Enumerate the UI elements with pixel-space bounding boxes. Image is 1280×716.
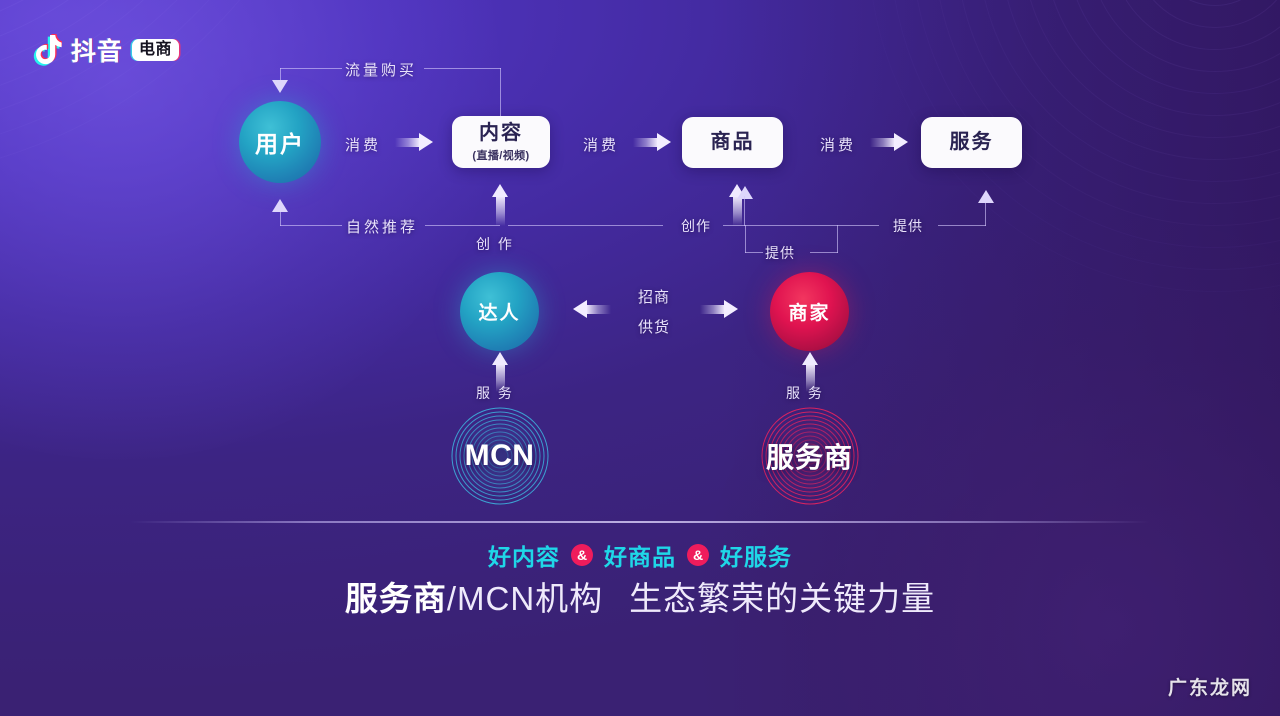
- arrow-tail: [587, 305, 611, 314]
- edge-organic-arrowhead: [272, 199, 288, 212]
- edge-organic-line-b: [425, 225, 500, 226]
- arrow-tail: [395, 138, 419, 147]
- edge-label-service-right: 服 务: [786, 383, 824, 403]
- edge-supply-right-riser: [985, 203, 986, 226]
- edge-traffic-buy-line-right: [424, 68, 501, 69]
- edge-supply-mid-stem: [744, 196, 745, 226]
- edge-label-recruit: 招商: [638, 286, 670, 307]
- brand-logo: 抖音 电商: [28, 32, 179, 68]
- edge-create-right-line-a: [723, 225, 879, 226]
- arrow-tail: [870, 138, 894, 147]
- arrow-create-to-content: [492, 184, 508, 226]
- arrow-tail: [733, 197, 742, 226]
- arrow-head: [573, 300, 587, 318]
- tagline-row: 好内容 & 好商品 & 好服务: [0, 538, 1280, 572]
- node-talent-label: 达人: [478, 298, 520, 325]
- edge-create-left-line: [508, 225, 663, 226]
- edge-traffic-buy-line-left: [280, 68, 342, 69]
- tagline-part-2: 好商品: [604, 538, 676, 572]
- node-goods-label: 商品: [711, 131, 755, 154]
- node-service-provider[interactable]: 服务商: [762, 408, 857, 503]
- node-mcn[interactable]: MCN: [452, 408, 547, 503]
- node-merchant-label: 商家: [788, 298, 830, 325]
- edge-label-consume-1: 消费: [345, 134, 381, 155]
- node-service-label: 服务: [950, 131, 994, 154]
- edge-supply-right-line: [938, 225, 986, 226]
- node-goods[interactable]: 商品: [682, 117, 783, 168]
- arrow-consume-3: [870, 135, 908, 149]
- edge-supply-mid-line-right: [810, 252, 838, 253]
- music-note-icon: [28, 33, 62, 67]
- arrow-recruit-to-talent: [573, 302, 611, 316]
- edge-label-consume-3: 消费: [820, 134, 856, 155]
- node-mcn-label: MCN: [465, 439, 535, 473]
- edge-label-traffic-buy: 流量购买: [345, 59, 417, 80]
- headline-row: 服务商 / MCN机构 生态繁荣的关键力量: [0, 572, 1280, 620]
- arrow-tail: [700, 305, 724, 314]
- tagline-part-3: 好服务: [720, 538, 792, 572]
- headline-mid: MCN机构: [457, 572, 603, 620]
- edge-organic-riser: [280, 212, 281, 226]
- edge-label-consume-2: 消费: [583, 134, 619, 155]
- arrow-head: [724, 300, 738, 318]
- tagline-part-1: 好内容: [488, 538, 560, 572]
- arrow-head: [894, 133, 908, 151]
- headline-slash: /: [447, 580, 457, 618]
- ampersand-badge-1: &: [571, 544, 593, 566]
- edge-traffic-buy-riser: [500, 68, 501, 116]
- brand-name: 抖音: [71, 32, 123, 68]
- arrow-consume-1: [395, 135, 433, 149]
- edge-label-create-left: 创 作: [476, 234, 514, 254]
- node-service-provider-label: 服务商: [766, 436, 853, 476]
- arrow-head: [492, 352, 508, 365]
- node-service[interactable]: 服务: [921, 117, 1022, 168]
- edge-supply-mid-right-riser: [837, 225, 838, 253]
- node-user[interactable]: 用户: [239, 101, 321, 183]
- arrow-supply-to-merchant: [700, 302, 738, 316]
- node-talent[interactable]: 达人: [460, 272, 539, 351]
- edge-label-supply-right: 提供: [893, 216, 923, 236]
- watermark: 广东龙网: [1168, 673, 1252, 700]
- edge-supply-right-arrowhead: [978, 190, 994, 203]
- headline-bold: 服务商: [345, 572, 447, 620]
- node-content[interactable]: 内容 (直播/视频): [452, 116, 550, 168]
- node-content-sublabel: (直播/视频): [472, 147, 529, 163]
- slide-canvas: 抖音 电商 用户 内容 (直播/视频) 商品 服务 流量购买 消费 消费 消费 …: [0, 0, 1280, 716]
- arrow-head: [802, 352, 818, 365]
- node-content-label: 内容: [479, 122, 523, 145]
- section-divider: [130, 521, 1150, 523]
- arrow-tail: [496, 197, 505, 226]
- edge-supply-mid-line-left: [745, 252, 763, 253]
- arrow-head: [419, 133, 433, 151]
- edge-organic-line-a: [280, 225, 342, 226]
- arrow-head: [492, 184, 508, 197]
- arrow-consume-2: [633, 135, 671, 149]
- edge-label-supply-mid: 提供: [765, 243, 795, 263]
- ampersand-badge-2: &: [687, 544, 709, 566]
- edge-supply-mid-left-riser: [745, 225, 746, 253]
- edge-label-service-left: 服 务: [476, 383, 514, 403]
- node-user-label: 用户: [255, 125, 305, 159]
- headline-tail: 生态繁荣的关键力量: [629, 572, 935, 620]
- edge-label-supply-goods: 供货: [638, 316, 670, 337]
- edge-label-create-right: 创作: [681, 216, 711, 236]
- node-merchant[interactable]: 商家: [770, 272, 849, 351]
- edge-traffic-buy-arrowhead: [272, 80, 288, 93]
- edge-label-organic-rec: 自然推荐: [346, 216, 418, 237]
- brand-badge: 电商: [132, 39, 179, 62]
- arrow-head: [657, 133, 671, 151]
- arrow-tail: [633, 138, 657, 147]
